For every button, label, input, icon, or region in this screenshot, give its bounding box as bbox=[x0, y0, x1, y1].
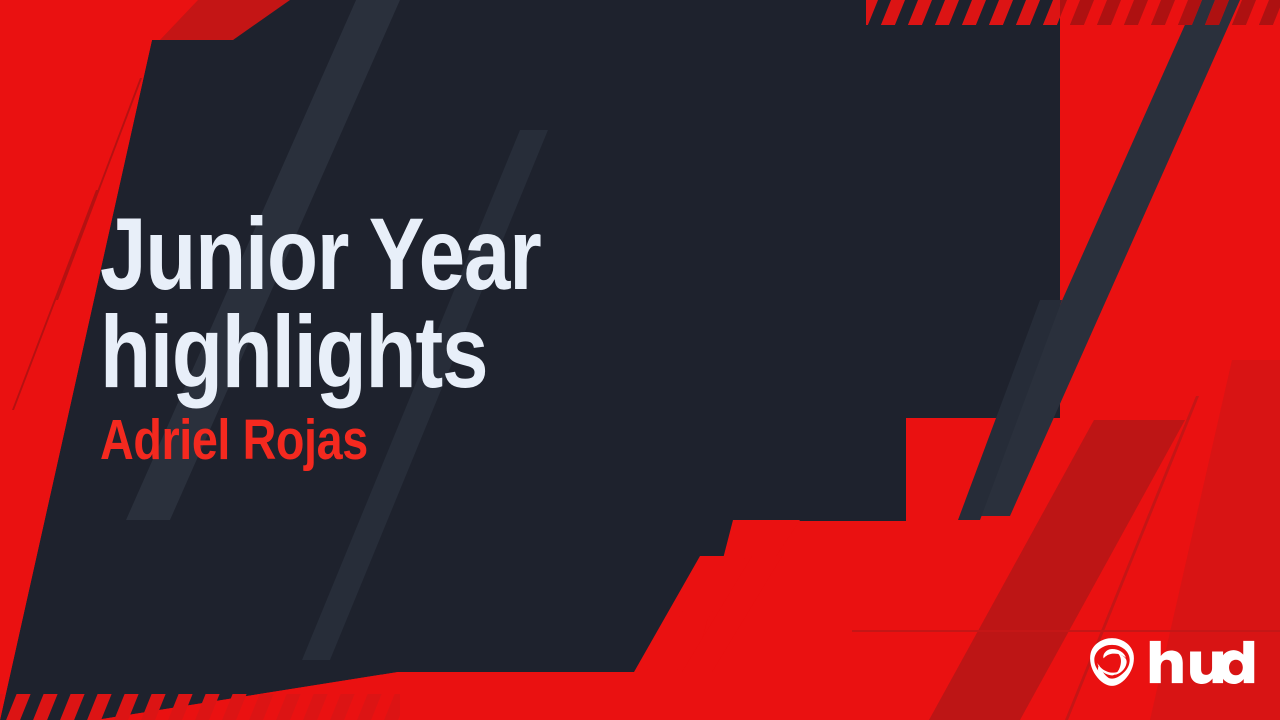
hudl-wordmark bbox=[1147, 639, 1257, 685]
background-artwork bbox=[0, 0, 1280, 720]
hudl-ball-icon bbox=[1086, 636, 1138, 688]
highlight-title-card: Junior Year highlights Adriel Rojas bbox=[0, 0, 1280, 720]
hudl-logo bbox=[1086, 636, 1257, 688]
